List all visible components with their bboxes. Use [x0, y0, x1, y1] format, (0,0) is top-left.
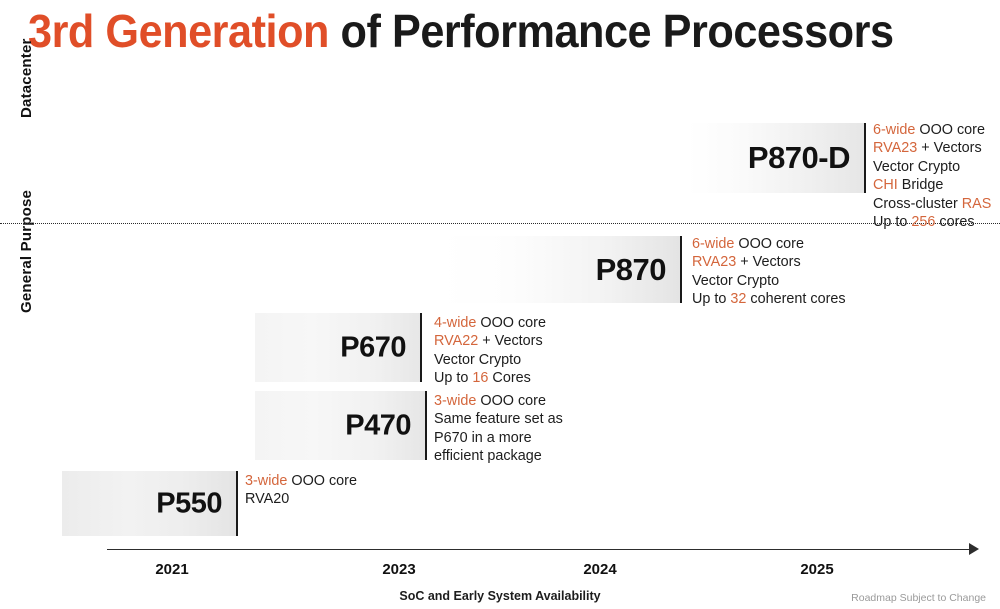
timeline-axis: [107, 549, 973, 550]
spec-line: Cross-cluster RAS: [873, 195, 991, 213]
spec-line: Same feature set as: [434, 410, 563, 428]
spec-line: Vector Crypto: [692, 272, 846, 290]
spec-text: OOO core: [915, 122, 985, 138]
spec-highlight: 4-wide: [434, 315, 476, 331]
spec-highlight: RVA23: [692, 254, 736, 270]
product-name: P470: [345, 409, 411, 442]
roadmap-row-p870d[interactable]: P870-D: [688, 123, 864, 193]
product-name: P870: [596, 252, 666, 288]
product-name: P870-D: [748, 140, 850, 176]
axis-year-2025: 2025: [800, 561, 833, 578]
spec-line: Up to 32 coherent cores: [692, 290, 846, 308]
spec-line: 6-wide OOO core: [692, 235, 846, 253]
spec-text: Cores: [488, 370, 530, 386]
spec-line: 6-wide OOO core: [873, 121, 991, 139]
specs-p550: 3-wide OOO coreRVA20: [245, 472, 357, 509]
axis-caption: SoC and Early System Availability: [0, 589, 1000, 603]
spec-text: OOO core: [287, 473, 357, 489]
spec-line: Vector Crypto: [873, 158, 991, 176]
spec-text: Same feature set as: [434, 411, 563, 427]
spec-text: Vector Crypto: [692, 273, 779, 289]
specs-p670: 4-wide OOO coreRVA22 + VectorsVector Cry…: [434, 314, 546, 388]
specs-p870d: 6-wide OOO coreRVA23 + VectorsVector Cry…: [873, 121, 991, 231]
specs-p470: 3-wide OOO coreSame feature set asP670 i…: [434, 392, 563, 466]
spec-highlight: 6-wide: [692, 236, 734, 252]
spec-text: Up to: [692, 291, 730, 307]
axis-year-2023: 2023: [382, 561, 415, 578]
spec-highlight: RAS: [962, 196, 992, 212]
timeline-arrow-icon: [969, 543, 979, 555]
spec-line: efficient package: [434, 447, 563, 465]
spec-line: RVA23 + Vectors: [873, 139, 991, 157]
spec-line: CHI Bridge: [873, 176, 991, 194]
product-name: P670: [340, 331, 406, 364]
spec-line: P670 in a more: [434, 429, 563, 447]
spec-line: Vector Crypto: [434, 351, 546, 369]
spec-highlight: 32: [730, 291, 746, 307]
spec-text: Cross-cluster: [873, 196, 962, 212]
spec-text: OOO core: [476, 315, 546, 331]
spec-text: Up to: [434, 370, 472, 386]
spec-line: 3-wide OOO core: [434, 392, 563, 410]
group-label-datacenter: Datacenter: [18, 38, 35, 118]
spec-text: + Vectors: [478, 333, 542, 349]
roadmap-row-p870[interactable]: P870: [440, 236, 680, 303]
spec-highlight: RVA23: [873, 140, 917, 156]
page-title-accent: 3rd Generation: [28, 5, 329, 57]
spec-text: Up to: [873, 214, 911, 230]
spec-text: Vector Crypto: [434, 352, 521, 368]
spec-highlight: 16: [472, 370, 488, 386]
segment-divider: [0, 223, 1000, 224]
spec-text: Vector Crypto: [873, 159, 960, 175]
page-title: 3rd Generation of Performance Processors: [28, 6, 894, 57]
spec-line: RVA23 + Vectors: [692, 253, 846, 271]
spec-line: Up to 16 Cores: [434, 369, 546, 387]
spec-text: OOO core: [734, 236, 804, 252]
roadmap-row-p470[interactable]: P470: [255, 391, 425, 460]
axis-year-2021: 2021: [155, 561, 188, 578]
spec-text: + Vectors: [917, 140, 981, 156]
spec-text: efficient package: [434, 448, 542, 464]
spec-line: 3-wide OOO core: [245, 472, 357, 490]
spec-highlight: 3-wide: [245, 473, 287, 489]
spec-highlight: CHI: [873, 177, 898, 193]
axis-year-2024: 2024: [583, 561, 616, 578]
roadmap-row-p670[interactable]: P670: [255, 313, 420, 382]
spec-highlight: 6-wide: [873, 122, 915, 138]
spec-line: 4-wide OOO core: [434, 314, 546, 332]
product-name: P550: [156, 487, 222, 520]
spec-text: cores: [935, 214, 974, 230]
spec-highlight: RVA22: [434, 333, 478, 349]
spec-line: Up to 256 cores: [873, 213, 991, 231]
spec-text: RVA20: [245, 491, 289, 507]
page-title-rest: of Performance Processors: [329, 5, 894, 57]
spec-text: Bridge: [898, 177, 944, 193]
spec-text: P670 in a more: [434, 430, 532, 446]
group-label-general-purpose: General Purpose: [18, 190, 35, 313]
spec-line: RVA20: [245, 490, 357, 508]
spec-text: coherent cores: [746, 291, 845, 307]
specs-p870: 6-wide OOO coreRVA23 + VectorsVector Cry…: [692, 235, 846, 309]
spec-text: OOO core: [476, 393, 546, 409]
roadmap-slide: 3rd Generation of Performance Processors…: [0, 0, 1000, 609]
roadmap-row-p550[interactable]: P550: [62, 471, 236, 536]
spec-highlight: 256: [911, 214, 935, 230]
footnote: Roadmap Subject to Change: [851, 592, 986, 604]
spec-highlight: 3-wide: [434, 393, 476, 409]
spec-line: RVA22 + Vectors: [434, 332, 546, 350]
spec-text: + Vectors: [736, 254, 800, 270]
